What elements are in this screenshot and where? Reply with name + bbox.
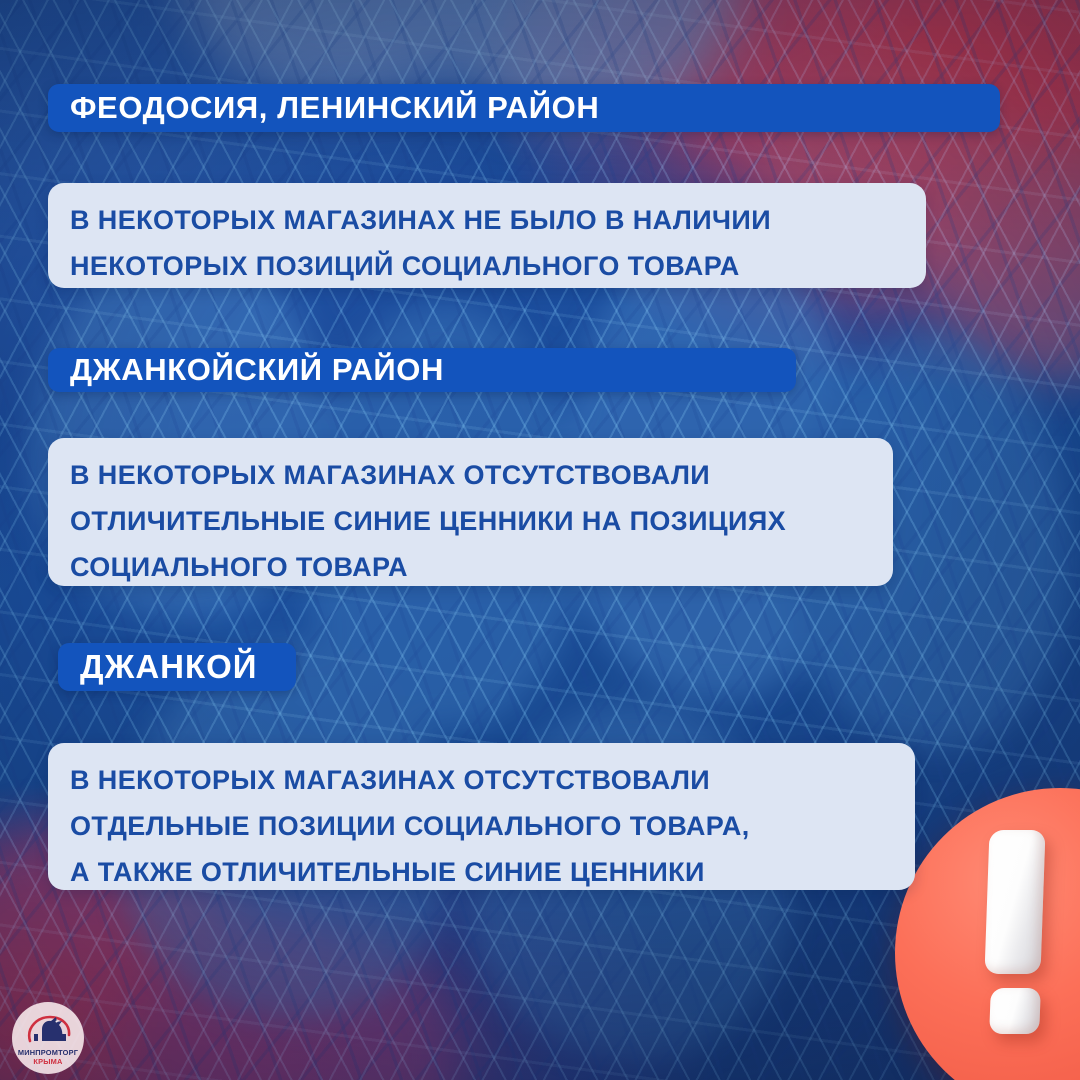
region-header-dzhankoysky-rayon: ДЖАНКОЙСКИЙ РАЙОН [48,348,796,392]
info-card-dzhankoysky-rayon: В НЕКОТОРЫХ МАГАЗИНАХ ОТСУТСТВОВАЛИ ОТЛИ… [48,438,893,586]
info-line: СОЦИАЛЬНОГО ТОВАРА [70,544,871,590]
ministry-logo: МИНПРОМТОРГ КРЫМА [12,1002,84,1074]
info-line: ОТЛИЧИТЕЛЬНЫЕ СИНИЕ ЦЕННИКИ НА ПОЗИЦИЯХ [70,498,871,544]
content-layer: ФЕОДОСИЯ, ЛЕНИНСКИЙ РАЙОН В НЕКОТОРЫХ МА… [0,0,1080,1080]
info-line: НЕКОТОРЫХ ПОЗИЦИЙ СОЦИАЛЬНОГО ТОВАРА [70,243,904,289]
info-card-dzhankoy: В НЕКОТОРЫХ МАГАЗИНАХ ОТСУТСТВОВАЛИ ОТДЕ… [48,743,915,890]
info-card-feodosiya-leninsky: В НЕКОТОРЫХ МАГАЗИНАХ НЕ БЫЛО В НАЛИЧИИ … [48,183,926,288]
griffin-emblem-icon [12,1011,84,1045]
info-line: В НЕКОТОРЫХ МАГАЗИНАХ НЕ БЫЛО В НАЛИЧИИ [70,197,904,243]
poster-canvas: ФЕОДОСИЯ, ЛЕНИНСКИЙ РАЙОН В НЕКОТОРЫХ МА… [0,0,1080,1080]
info-line: ОТДЕЛЬНЫЕ ПОЗИЦИИ СОЦИАЛЬНОГО ТОВАРА, [70,803,893,849]
region-header-feodosiya-leninsky: ФЕОДОСИЯ, ЛЕНИНСКИЙ РАЙОН [48,84,1000,132]
logo-name: МИНПРОМТОРГ [18,1048,78,1057]
info-line: А ТАКЖЕ ОТЛИЧИТЕЛЬНЫЕ СИНИЕ ЦЕННИКИ [70,849,893,895]
region-header-dzhankoy: ДЖАНКОЙ [58,643,296,691]
info-line: В НЕКОТОРЫХ МАГАЗИНАХ ОТСУТСТВОВАЛИ [70,757,893,803]
info-line: В НЕКОТОРЫХ МАГАЗИНАХ ОТСУТСТВОВАЛИ [70,452,871,498]
logo-subname: КРЫМА [33,1057,62,1066]
